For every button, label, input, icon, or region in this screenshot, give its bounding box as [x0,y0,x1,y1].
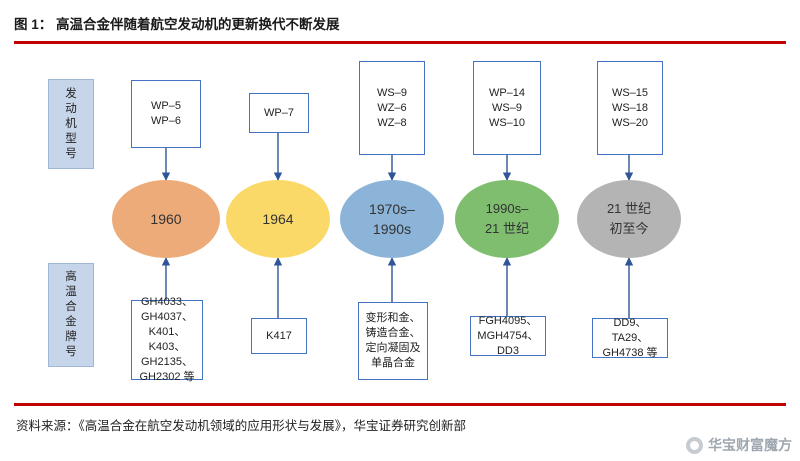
engine-box-1960-text: WP–5 WP–6 [147,99,185,129]
era-ellipse-1970s: 1970s– 1990s [340,180,444,258]
era-ellipse-21c: 21 世纪 初至今 [577,180,681,258]
alloy-box-1970s: 变形和金、铸造合金、定向凝固及单晶合金 [358,302,428,380]
row-label-alloy-grade: 高温合金牌号 [48,263,94,367]
era-ellipse-1990s: 1990s– 21 世纪 [455,180,559,258]
era-ellipse-1964-label: 1964 [262,209,293,229]
engine-box-1990s: WP–14 WS–9 WS–10 [473,61,541,155]
engine-box-21c: WS–15 WS–18 WS–20 [597,61,663,155]
era-ellipse-21c-label: 21 世纪 初至今 [607,199,651,239]
era-ellipse-1960: 1960 [112,180,220,258]
era-ellipse-1990s-label: 1990s– 21 世纪 [485,199,529,239]
era-ellipse-1960-label: 1960 [150,209,181,229]
alloy-box-1990s: FGH4095、 MGH4754、DD3 [470,316,546,356]
alloy-box-1964-text: K417 [262,329,296,344]
alloy-box-1960-text: GH4033、 GH4037、 K401、K403、 GH2135、 GH230… [132,295,202,385]
row-label-alloy-grade-text: 高温合金牌号 [60,270,82,360]
alloy-box-1990s-text: FGH4095、 MGH4754、DD3 [471,314,545,359]
era-ellipse-1970s-label: 1970s– 1990s [369,199,415,239]
engine-box-1970s-text: WS–9 WZ–6 WZ–8 [373,86,411,131]
source-note: 资料来源：《高温合金在航空发动机领域的应用形状与发展》，华宝证券研究创新部 [16,415,716,434]
era-ellipse-1964: 1964 [226,180,330,258]
engine-box-1990s-text: WP–14 WS–9 WS–10 [485,86,529,131]
engine-box-1964: WP–7 [249,93,309,133]
watermark-text: 华宝财富魔方 [708,435,792,455]
alloy-box-1970s-text: 变形和金、铸造合金、定向凝固及单晶合金 [359,311,427,371]
engine-box-1970s: WS–9 WZ–6 WZ–8 [359,61,425,155]
divider-bottom [14,403,786,406]
figure-page: 图 1： 高温合金伴随着航空发动机的更新换代不断发展 发动机型号 高温合金牌号 [0,0,800,461]
alloy-box-1960: GH4033、 GH4037、 K401、K403、 GH2135、 GH230… [131,300,203,380]
engine-box-1964-text: WP–7 [260,106,298,121]
row-label-engine-model: 发动机型号 [48,79,94,169]
alloy-box-21c: DD9、TA29、 GH4738 等 [592,318,668,358]
engine-box-1960: WP–5 WP–6 [131,80,201,148]
watermark: 华宝财富魔方 [686,435,792,455]
figure-title-row: 图 1： 高温合金伴随着航空发动机的更新换代不断发展 [14,10,786,36]
alloy-box-21c-text: DD9、TA29、 GH4738 等 [593,316,667,361]
snowball-logo-icon [686,437,703,454]
divider-top [14,41,786,44]
alloy-box-1964: K417 [251,318,307,354]
row-label-engine-model-text: 发动机型号 [60,87,82,162]
page-title: 图 1： 高温合金伴随着航空发动机的更新换代不断发展 [14,13,340,33]
engine-box-21c-text: WS–15 WS–18 WS–20 [608,86,652,131]
